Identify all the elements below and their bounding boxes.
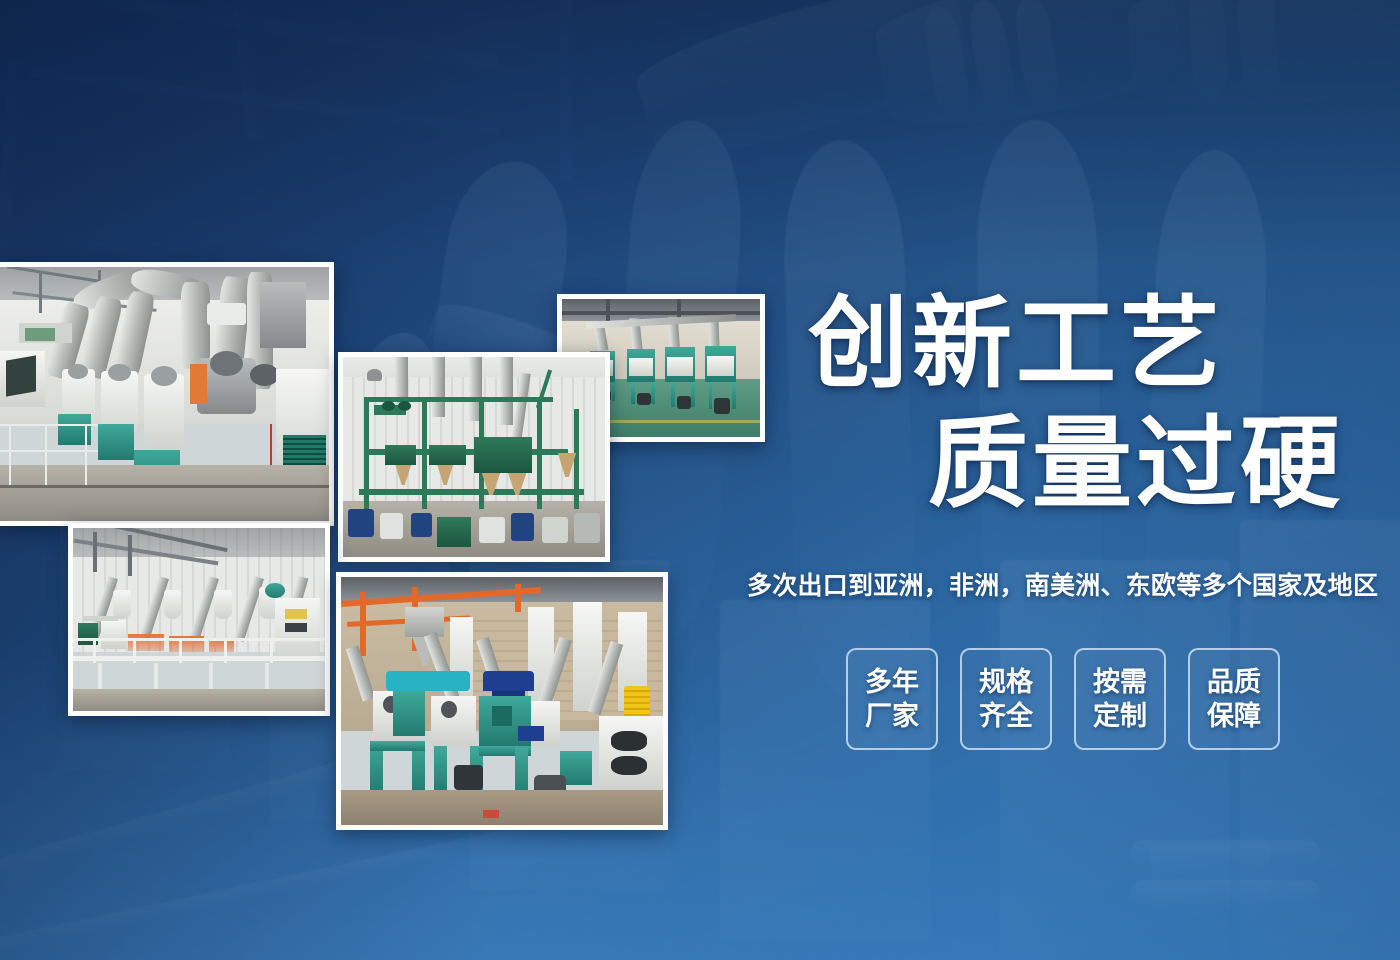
badge-line-1: 品质 [1207, 665, 1261, 699]
photo-flour-milling-line-ducts [0, 262, 334, 526]
headline-line-2: 质量过硬 [928, 412, 1344, 516]
feature-badge-full-specifications[interactable]: 规格 齐全 [960, 648, 1052, 750]
badge-line-1: 多年 [865, 665, 919, 699]
feature-badge-quality-guarantee[interactable]: 品质 保障 [1188, 648, 1280, 750]
photo-green-frame-milling-plant [338, 352, 610, 562]
feature-badge-row: 多年 厂家 规格 齐全 按需 定制 品质 保障 [846, 648, 1280, 750]
headline-line-1: 创新工艺 [808, 292, 1224, 396]
badge-line-2: 定制 [1093, 699, 1147, 733]
feature-badge-custom-on-demand[interactable]: 按需 定制 [1074, 648, 1166, 750]
promo-banner: 创新工艺 质量过硬 多次出口到亚洲，非洲，南美洲、东欧等多个国家及地区 多年 厂… [0, 0, 1400, 960]
badge-line-1: 按需 [1093, 665, 1147, 699]
badge-line-2: 齐全 [979, 699, 1033, 733]
subtitle-text: 多次出口到亚洲，非洲，南美洲、东欧等多个国家及地区 [747, 566, 1378, 602]
badge-line-1: 规格 [979, 665, 1033, 699]
photo-wide-hall-platform-line [68, 523, 330, 716]
badge-line-2: 厂家 [865, 699, 919, 733]
feature-badge-many-years-factory[interactable]: 多年 厂家 [846, 648, 938, 750]
badge-line-2: 保障 [1207, 699, 1261, 733]
photo-combined-milling-machinery [336, 572, 668, 830]
